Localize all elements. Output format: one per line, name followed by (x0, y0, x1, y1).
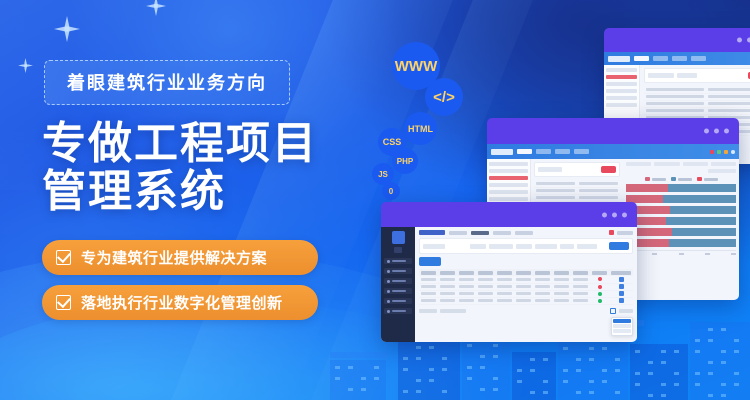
legend-item (671, 177, 692, 181)
nav-tab[interactable] (574, 149, 589, 154)
table-cell (644, 100, 706, 107)
sidebar-item-icon (387, 290, 390, 293)
tech-bubble-php: PHP (392, 148, 418, 174)
table-column-header[interactable] (457, 269, 476, 276)
legend-item (697, 177, 718, 181)
mockup-navbar (487, 144, 739, 159)
chart-bar-4 (626, 217, 736, 225)
table-column-header[interactable] (495, 269, 514, 276)
filter-bar (644, 68, 750, 83)
table-cell (514, 297, 533, 304)
table-cell (419, 297, 438, 304)
table-row[interactable] (419, 283, 633, 290)
table-column-header[interactable] (533, 269, 552, 276)
table-cell (706, 86, 750, 93)
table-cell (706, 107, 750, 114)
dashboard-mockup-front (381, 202, 637, 342)
table-cell (438, 290, 457, 297)
table-cell (476, 283, 495, 290)
bar-segment-blue (668, 184, 736, 192)
tree-item[interactable] (489, 162, 528, 166)
mockup-titlebar (381, 202, 637, 227)
nav-tab[interactable] (517, 149, 532, 154)
sidebar-item-3[interactable] (384, 278, 412, 284)
alert-icon[interactable] (724, 150, 728, 154)
table-cell (476, 276, 495, 283)
table-cell (476, 297, 495, 304)
table-cell (457, 297, 476, 304)
sidebar-item-label (392, 280, 406, 282)
bar-segment-blue (669, 239, 736, 247)
tech-bubble-html: HTML (404, 112, 437, 145)
tree-item[interactable] (606, 89, 637, 93)
dropdown-item[interactable] (613, 324, 631, 328)
building-silhouette (512, 352, 556, 400)
sidebar-item-icon (387, 270, 390, 273)
table-cell (577, 180, 620, 187)
feature-pill-2[interactable]: 落地执行行业数字化管理创新 (42, 285, 318, 320)
notification-badge-icon[interactable] (710, 150, 714, 154)
feature-pill-label: 落地执行行业数字化管理创新 (81, 292, 283, 313)
context-dropdown-menu[interactable] (611, 317, 633, 336)
sidebar-item-icon (387, 310, 390, 313)
table-cell (419, 283, 438, 290)
marketing-banner: 着眼建筑行业业务方向 专做工程项目 管理系统 专为建筑行业提供解决方案落地执行行… (0, 0, 750, 400)
table-row[interactable] (644, 93, 750, 100)
table-row[interactable] (644, 86, 750, 93)
collapse-toggle-icon[interactable] (394, 247, 402, 253)
sidebar-item-2[interactable] (384, 268, 412, 274)
table-column-header[interactable] (590, 269, 609, 276)
sidebar-item-label (392, 300, 406, 302)
table-column-header[interactable] (571, 269, 590, 276)
table-column-header[interactable] (514, 269, 533, 276)
chart-legend (626, 177, 736, 181)
table-cell (571, 276, 590, 283)
table-header-row (419, 269, 633, 276)
row-action-icon[interactable] (609, 276, 633, 283)
headline-line-1: 专做工程项目 (42, 119, 318, 168)
nav-tab[interactable] (691, 56, 706, 61)
table-row[interactable] (644, 100, 750, 107)
nav-tab[interactable] (672, 56, 687, 61)
status-badge (590, 297, 609, 304)
row-action-icon[interactable] (609, 283, 633, 290)
toolbar-item-active[interactable] (471, 231, 489, 235)
bar-segment-blue (672, 228, 736, 236)
window-dots (704, 129, 729, 134)
sidebar-item-5[interactable] (384, 298, 412, 304)
table-row[interactable] (534, 180, 620, 187)
dropdown-item[interactable] (613, 329, 631, 333)
table-cell (552, 276, 571, 283)
toolbar-item[interactable] (515, 231, 533, 235)
sidebar-item-icon (387, 260, 390, 263)
table-cell (571, 290, 590, 297)
sidebar-item-label (392, 290, 406, 292)
row-action-icon[interactable] (609, 290, 633, 297)
sidebar-item-icon (387, 300, 390, 303)
mockup-chart-pane (623, 159, 739, 300)
tree-item[interactable] (606, 96, 637, 100)
table-cell (552, 290, 571, 297)
table-cell (438, 276, 457, 283)
table-cell (552, 297, 571, 304)
add-button[interactable] (419, 257, 441, 266)
notification-badge-icon[interactable] (609, 230, 614, 235)
bar-segment-red (626, 184, 668, 192)
building-silhouette (630, 344, 688, 400)
table-cell (514, 290, 533, 297)
filter-bar (419, 238, 633, 254)
toolbar-item[interactable] (449, 231, 467, 235)
tree-item[interactable] (489, 169, 528, 173)
avatar[interactable] (731, 150, 735, 154)
table-cell (644, 107, 706, 114)
tree-item[interactable] (489, 197, 528, 201)
bar-chart (626, 177, 736, 255)
sidebar-item-6[interactable] (384, 308, 412, 314)
window-dots (737, 38, 750, 43)
table-cell (644, 93, 706, 100)
sidebar-item-label (392, 260, 406, 262)
table-cell (533, 297, 552, 304)
table-cell (534, 194, 577, 201)
table-cell (706, 93, 750, 100)
table-cell (644, 86, 706, 93)
table-cell (495, 297, 514, 304)
status-badge (590, 276, 609, 283)
filter-bar (534, 162, 620, 177)
status-badge (590, 290, 609, 297)
nav-tab[interactable] (555, 149, 570, 154)
table-cell (514, 276, 533, 283)
search-button[interactable] (609, 242, 629, 250)
tree-item-selected[interactable] (606, 75, 637, 79)
table-cell (419, 290, 438, 297)
app-logo-icon (491, 149, 513, 155)
table-cell (457, 290, 476, 297)
tagline-box: 着眼建筑行业业务方向 (44, 60, 290, 105)
table-cell (476, 290, 495, 297)
table-cell (533, 276, 552, 283)
chart-bar-2 (626, 195, 736, 203)
table-cell (457, 276, 476, 283)
table-cell (514, 283, 533, 290)
navbar-actions (710, 150, 735, 154)
table-cell (571, 283, 590, 290)
mockup-navbar (604, 52, 750, 65)
row-action-icon[interactable] (609, 297, 633, 304)
table-cell (533, 283, 552, 290)
primary-action-button[interactable] (601, 166, 616, 173)
table-column-header[interactable] (552, 269, 571, 276)
sidebar-item-4[interactable] (384, 288, 412, 294)
nav-tab[interactable] (653, 56, 668, 61)
tree-item[interactable] (606, 68, 637, 72)
headline-line-2: 管理系统 (42, 168, 318, 216)
tree-item-selected[interactable] (489, 176, 528, 180)
sidebar-item-label (392, 270, 406, 272)
table-cell (534, 187, 577, 194)
building-silhouette (462, 338, 510, 400)
mockup-titlebar (487, 118, 739, 144)
page-current[interactable] (610, 308, 616, 314)
table-column-header[interactable] (609, 269, 633, 276)
chart-bar-6 (626, 239, 736, 247)
status-badge (590, 283, 609, 290)
checkbox-checked-icon (56, 295, 71, 310)
checkbox-checked-icon (56, 250, 71, 265)
bar-segment-blue (666, 217, 736, 225)
sidebar-item-1[interactable] (384, 258, 412, 264)
tree-item[interactable] (489, 183, 528, 187)
chart-bar-5 (626, 228, 736, 236)
user-menu[interactable] (617, 231, 633, 235)
table-cell (495, 283, 514, 290)
table-column-header[interactable] (476, 269, 495, 276)
tagline-text: 着眼建筑行业业务方向 (67, 69, 267, 95)
chart-filters (626, 162, 736, 173)
page-title: 专做工程项目 管理系统 (42, 120, 318, 215)
status-icon[interactable] (717, 150, 721, 154)
toolbar-actions (609, 230, 633, 235)
top-toolbar (419, 230, 633, 235)
dropdown-item[interactable] (613, 319, 631, 323)
mockup-titlebar (604, 28, 750, 52)
legend-item (645, 177, 666, 181)
table-cell (534, 180, 577, 187)
table-row[interactable] (419, 290, 633, 297)
toolbar-item[interactable] (493, 231, 511, 235)
mockup-content (415, 227, 637, 342)
tree-item[interactable] (606, 103, 637, 107)
mockup-body (381, 227, 637, 342)
table-cell (495, 276, 514, 283)
tree-item[interactable] (489, 190, 528, 194)
table-row[interactable] (534, 187, 620, 194)
chart-x-axis (626, 250, 736, 255)
table-cell (577, 187, 620, 194)
table-row[interactable] (419, 276, 633, 283)
app-sidebar[interactable] (381, 227, 415, 342)
app-logo-icon (608, 56, 630, 62)
table-cell (533, 290, 552, 297)
table-cell (706, 100, 750, 107)
feature-pill-list: 专为建筑行业提供解决方案落地执行行业数字化管理创新 (42, 240, 318, 330)
table-cell (438, 283, 457, 290)
table-row[interactable] (534, 194, 620, 201)
table-column-header[interactable] (419, 269, 438, 276)
data-table (419, 269, 633, 305)
chart-bars (626, 184, 736, 247)
table-cell (438, 297, 457, 304)
app-logo-icon (392, 231, 405, 244)
tree-item[interactable] (606, 82, 637, 86)
table-cell (571, 297, 590, 304)
sidebar-item-icon (387, 280, 390, 283)
table-column-header[interactable] (438, 269, 457, 276)
feature-pill-label: 专为建筑行业提供解决方案 (81, 247, 267, 268)
tech-bubble-0: 0 (382, 182, 400, 200)
building-silhouette (690, 322, 750, 400)
chart-bar-1 (626, 184, 736, 192)
table-cell (419, 276, 438, 283)
window-dots (602, 212, 627, 217)
table-cell (552, 283, 571, 290)
tech-bubble-: </> (425, 78, 463, 116)
table-cell (495, 290, 514, 297)
table-row[interactable] (419, 297, 633, 304)
pagination[interactable] (419, 308, 633, 314)
sidebar-item-label (392, 310, 406, 312)
module-title (419, 230, 445, 235)
table-row[interactable] (644, 107, 750, 114)
table-cell (457, 283, 476, 290)
feature-pill-1[interactable]: 专为建筑行业提供解决方案 (42, 240, 318, 275)
nav-tab[interactable] (634, 56, 649, 61)
bar-segment-blue (663, 195, 736, 203)
table-cell (577, 194, 620, 201)
copy-block: 着眼建筑行业业务方向 专做工程项目 管理系统 专为建筑行业提供解决方案落地执行行… (0, 0, 380, 400)
chart-bar-3 (626, 206, 736, 214)
bar-segment-blue (670, 206, 736, 214)
nav-tab[interactable] (536, 149, 551, 154)
